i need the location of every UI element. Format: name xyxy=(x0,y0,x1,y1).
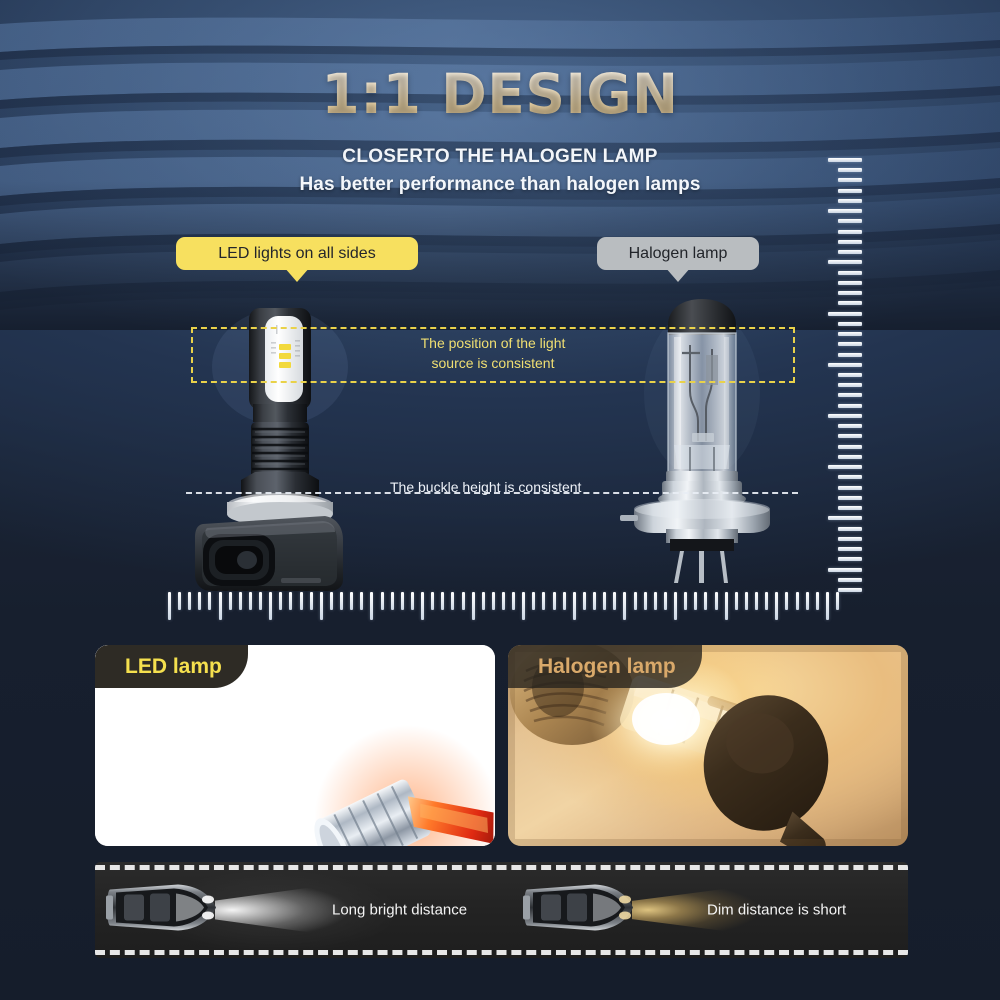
ruler-tick xyxy=(482,592,485,610)
road-dash-top xyxy=(95,865,908,870)
ruler-tick xyxy=(289,592,292,610)
ruler-tick xyxy=(350,592,353,610)
road-dash-bottom xyxy=(95,950,908,955)
ruler-tick xyxy=(838,445,862,449)
led-panel-label: LED lamp xyxy=(125,655,222,679)
ruler-tick xyxy=(828,209,862,213)
ruler-tick xyxy=(725,592,728,620)
ruler-tick xyxy=(168,592,171,620)
ruler-tick xyxy=(838,373,862,377)
ruler-tick xyxy=(838,271,862,275)
ruler-tick xyxy=(806,592,809,610)
ruler-tick xyxy=(694,592,697,610)
ruler-tick xyxy=(644,592,647,610)
ruler-tick xyxy=(593,592,596,610)
ruler-tick xyxy=(828,465,862,469)
ruler-tick xyxy=(340,592,343,610)
ruler-tick xyxy=(360,592,363,610)
ruler-tick xyxy=(828,363,862,367)
ruler-tick xyxy=(462,592,465,610)
ruler-tick xyxy=(370,592,373,620)
ruler-tick xyxy=(796,592,799,610)
ruler-tick xyxy=(775,592,778,620)
ruler-tick xyxy=(838,281,862,285)
halogen-panel-label: Halogen lamp xyxy=(538,655,676,679)
ruler-tick xyxy=(208,592,211,610)
ruler-tick xyxy=(838,332,862,336)
ruler-tick xyxy=(684,592,687,610)
ruler-tick xyxy=(512,592,515,610)
ruler-tick xyxy=(838,404,862,408)
led-distance-caption: Long bright distance xyxy=(332,902,467,919)
road-comparison-strip: Long bright distance Dim distance is sho… xyxy=(95,862,908,958)
car-top-view-halogen xyxy=(521,880,636,941)
ruler-tick xyxy=(279,592,282,610)
ruler-tick xyxy=(472,592,475,620)
ruler-tick xyxy=(674,592,677,620)
ruler-tick xyxy=(492,592,495,610)
ruler-tick xyxy=(634,592,637,610)
ruler-tick xyxy=(838,301,862,305)
ruler-tick xyxy=(431,592,434,610)
ruler-tick xyxy=(838,199,862,203)
ruler-tick xyxy=(816,592,819,610)
ruler-tick xyxy=(826,592,829,620)
led-photo-bulb-graphic xyxy=(281,726,495,846)
ruler-tick xyxy=(542,592,545,610)
ruler-tick xyxy=(704,592,707,610)
ruler-tick xyxy=(838,250,862,254)
ruler-tick xyxy=(838,353,862,357)
ruler-tick xyxy=(828,516,862,520)
car-top-view-led xyxy=(104,880,219,941)
ruler-tick xyxy=(838,486,862,490)
callout-led-lights: LED lights on all sides xyxy=(176,237,418,270)
ruler-tick xyxy=(838,291,862,295)
ruler-tick xyxy=(836,592,839,610)
ruler-tick xyxy=(838,240,862,244)
ruler-tick xyxy=(320,592,323,620)
ruler-tick xyxy=(838,537,862,541)
halogen-panel-ribbon: Halogen lamp xyxy=(508,645,702,688)
ruler-tick xyxy=(269,592,272,620)
ruler-tick xyxy=(188,592,191,610)
ruler-tick xyxy=(838,475,862,479)
ruler-tick xyxy=(300,592,303,610)
ruler-tick xyxy=(310,592,313,610)
ruler-tick xyxy=(745,592,748,610)
ruler-tick xyxy=(603,592,606,610)
ruler-tick xyxy=(715,592,718,610)
ruler-tick xyxy=(838,393,862,397)
ruler-tick xyxy=(411,592,414,610)
ruler-tick xyxy=(735,592,738,610)
ruler-tick xyxy=(838,506,862,510)
ruler-tick xyxy=(838,230,862,234)
ruler-tick xyxy=(441,592,444,610)
ruler-tick xyxy=(259,592,262,610)
ruler-tick xyxy=(391,592,394,610)
halogen-distance-caption: Dim distance is short xyxy=(707,902,846,919)
ruler-tick xyxy=(330,592,333,610)
ruler-tick xyxy=(573,592,576,620)
vertical-ruler xyxy=(818,158,862,588)
ruler-tick xyxy=(613,592,616,610)
ruler-tick xyxy=(838,527,862,531)
light-source-alignment-box xyxy=(191,327,795,383)
ruler-tick xyxy=(838,189,862,193)
ruler-tick xyxy=(249,592,252,610)
led-panel-ribbon: LED lamp xyxy=(95,645,248,688)
ruler-tick xyxy=(765,592,768,610)
ruler-tick xyxy=(401,592,404,610)
page-title: 1:1 DESIGN xyxy=(0,62,1000,126)
ruler-tick xyxy=(583,592,586,610)
ruler-tick xyxy=(828,312,862,316)
ruler-tick xyxy=(828,414,862,418)
horizontal-ruler xyxy=(168,592,836,622)
ruler-tick xyxy=(838,434,862,438)
infographic-canvas: 1:1 DESIGN CLOSERTO THE HALOGEN LAMP Has… xyxy=(0,0,1000,1000)
ruler-tick xyxy=(664,592,667,610)
ruler-tick xyxy=(563,592,566,610)
ruler-tick xyxy=(838,578,862,582)
ruler-tick xyxy=(838,383,862,387)
ruler-tick xyxy=(838,322,862,326)
ruler-tick xyxy=(828,260,862,264)
ruler-tick xyxy=(838,424,862,428)
buckle-height-annotation: The buckle height is consistent xyxy=(384,479,587,495)
ruler-tick xyxy=(451,592,454,610)
ruler-tick xyxy=(623,592,626,620)
ruler-tick xyxy=(239,592,242,610)
ruler-tick xyxy=(553,592,556,610)
ruler-tick xyxy=(229,592,232,610)
ruler-tick xyxy=(838,168,862,172)
ruler-tick xyxy=(838,219,862,223)
callout-halogen-label: Halogen lamp xyxy=(629,245,728,263)
ruler-tick xyxy=(198,592,201,610)
ruler-tick xyxy=(828,568,862,572)
ruler-tick xyxy=(838,455,862,459)
ruler-tick xyxy=(828,158,862,162)
ruler-tick xyxy=(421,592,424,620)
ruler-tick xyxy=(654,592,657,610)
callout-halogen-lamp: Halogen lamp xyxy=(597,237,759,270)
ruler-tick xyxy=(502,592,505,610)
ruler-tick xyxy=(838,496,862,500)
ruler-tick xyxy=(838,557,862,561)
ruler-tick xyxy=(755,592,758,610)
led-comparison-panel: LED lamp xyxy=(95,645,495,846)
callout-led-label: LED lights on all sides xyxy=(218,245,375,263)
ruler-tick xyxy=(178,592,181,610)
ruler-tick xyxy=(838,178,862,182)
ruler-tick xyxy=(381,592,384,610)
ruler-tick xyxy=(838,588,862,592)
ruler-tick xyxy=(522,592,525,620)
ruler-tick xyxy=(532,592,535,610)
ruler-tick xyxy=(838,342,862,346)
halogen-comparison-panel: Halogen lamp xyxy=(508,645,908,846)
ruler-tick xyxy=(838,547,862,551)
ruler-tick xyxy=(785,592,788,610)
ruler-tick xyxy=(219,592,222,620)
